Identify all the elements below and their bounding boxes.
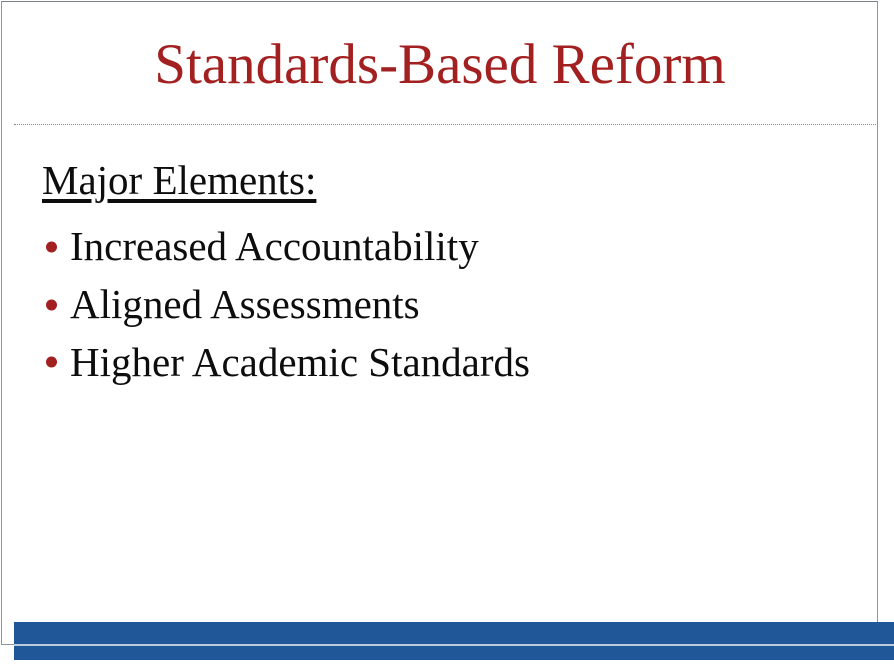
bullet-list: Increased Accountability Aligned Assessm… <box>42 218 842 391</box>
list-item: Higher Academic Standards <box>42 334 842 392</box>
footer-accent-bar-lower <box>14 646 894 660</box>
list-item: Increased Accountability <box>42 218 842 276</box>
list-item-label: Aligned Assessments <box>70 281 420 327</box>
list-item-label: Higher Academic Standards <box>70 339 530 385</box>
slide-title: Standards-Based Reform <box>154 35 725 95</box>
section-heading: Major Elements: <box>42 160 316 201</box>
bullet-dot-icon <box>46 357 57 368</box>
title-divider-line <box>14 124 878 125</box>
slide-body: Major Elements: Increased Accountability… <box>42 160 842 391</box>
footer-accent-bar-upper <box>14 622 894 644</box>
slide-title-area: Standards-Based Reform <box>2 22 878 108</box>
bullet-dot-icon <box>46 241 57 252</box>
list-item: Aligned Assessments <box>42 276 842 334</box>
bullet-dot-icon <box>46 299 57 310</box>
slide: Standards-Based Reform Major Elements: I… <box>0 0 894 671</box>
list-item-label: Increased Accountability <box>70 223 479 269</box>
